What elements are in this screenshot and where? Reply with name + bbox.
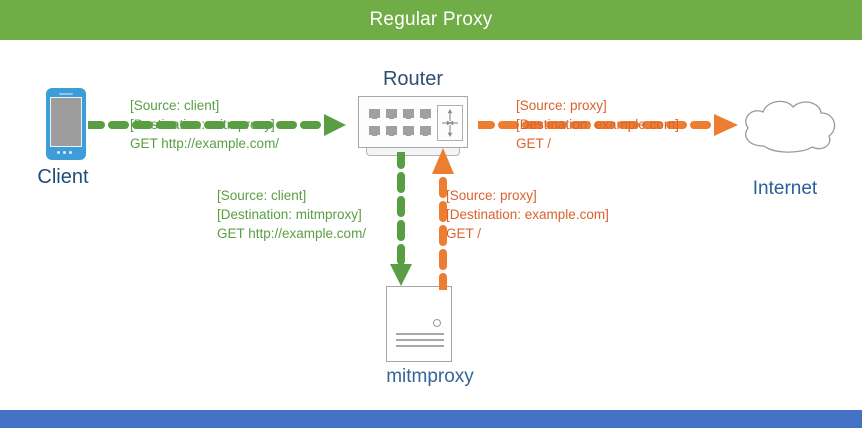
phone-buttons [57,151,75,155]
internet-label: Internet [715,178,855,200]
message-router-to-mitmproxy: [Source: client] [Destination: mitmproxy… [217,186,366,243]
message-line: [Source: proxy] [516,96,679,115]
flow-arrow-router-to-mitmproxy [390,152,412,293]
doc-circle [433,319,441,327]
message-line: GET / [446,224,609,243]
message-line: [Destination: example.com] [516,115,679,134]
router-icon [358,96,468,148]
cloud-icon [738,96,842,154]
message-line: [Source: proxy] [446,186,609,205]
doc-text-line [396,333,444,335]
message-line: GET http://example.com/ [217,224,366,243]
message-mitmproxy-to-router: [Source: proxy] [Destination: example.co… [446,186,609,243]
footer-bar [0,410,862,428]
message-client-to-router: [Source: client] [Destination: mitmproxy… [130,96,279,153]
router-switch-arrows-icon [437,105,463,141]
message-line: [Destination: mitmproxy] [217,205,366,224]
phone-screen [50,97,82,147]
smartphone-icon [46,88,86,160]
message-router-to-internet: [Source: proxy] [Destination: example.co… [516,96,679,153]
client-label: Client [8,166,118,189]
message-line: [Source: client] [130,96,279,115]
message-line: [Destination: example.com] [446,205,609,224]
message-line: GET / [516,134,679,153]
doc-text-line [396,345,444,347]
router-label: Router [345,68,481,91]
document-icon [386,286,452,362]
diagram-canvas: Regular Proxy Client Router [0,0,862,428]
title-banner: Regular Proxy [0,0,862,40]
doc-text-line [396,339,444,341]
router-ports [369,109,431,139]
mitmproxy-label: mitmproxy [350,366,510,388]
message-line: [Destination: mitmproxy] [130,115,279,134]
message-line: [Source: client] [217,186,366,205]
phone-speaker [59,93,73,95]
message-line: GET http://example.com/ [130,134,279,153]
page-title: Regular Proxy [0,0,862,40]
